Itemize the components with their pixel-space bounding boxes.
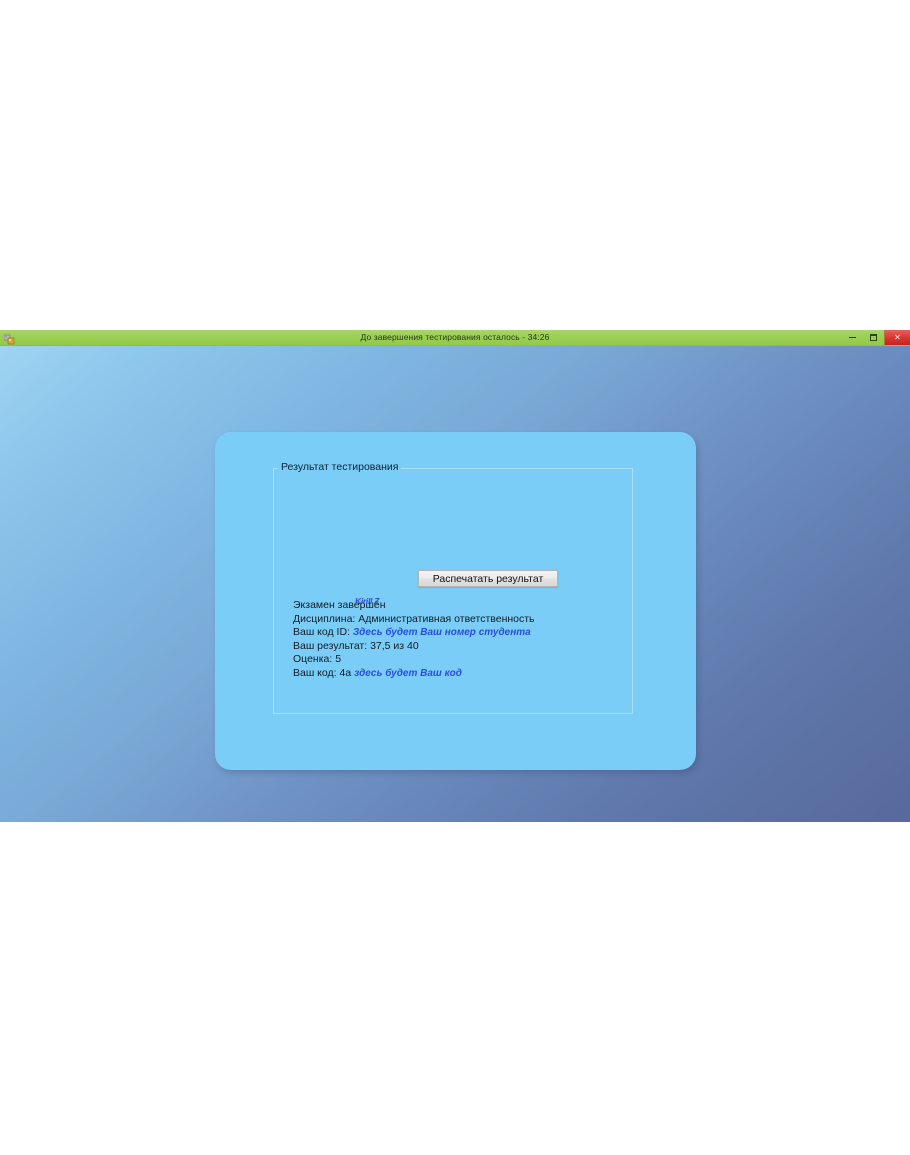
score-line: Ваш результат: 37,5 из 40 [293,640,633,654]
result-dialog-card: Результат тестирования Распечатать резул… [215,432,696,770]
code-line: Ваш код: 4а здесь будет Ваш код [293,667,633,681]
grade-line: Оценка: 5 [293,653,633,667]
print-result-button[interactable]: Распечатать результат [418,570,558,587]
window-client-area: Результат тестирования Распечатать резул… [0,346,910,822]
student-id-label: Ваш код ID: [293,626,350,638]
score-value: 37,5 из 40 [370,640,419,652]
restore-icon [870,334,877,341]
exam-status-line: Экзамен завершён Kirill Z [293,599,633,613]
window-title-text: До завершения тестирования осталось - 34… [0,330,910,345]
grade-label: Оценка: [293,653,332,665]
application-window: До завершения тестирования осталось - 34… [0,330,910,822]
discipline-line: Дисциплина: Административная ответственн… [293,613,633,627]
window-controls: ✕ [842,330,910,345]
discipline-value: Административная ответственность [358,613,534,625]
close-icon: ✕ [894,333,901,342]
code-label: Ваш код: [293,667,337,679]
window-title-bar[interactable]: До завершения тестирования осталось - 34… [0,330,910,346]
code-hint: здесь будет Ваш код [354,668,462,679]
close-button[interactable]: ✕ [884,330,910,345]
grade-value: 5 [335,653,341,665]
result-text-block: Экзамен завершён Kirill Z Дисциплина: Ад… [293,599,633,680]
watermark-overlay-text: Kirill Z [355,595,379,609]
restore-button[interactable] [863,330,884,345]
screen: До завершения тестирования осталось - 34… [0,0,910,1155]
minimize-icon [849,337,856,338]
code-value: 4а [339,667,351,679]
result-groupbox-legend: Результат тестирования [278,461,401,473]
application-icon [4,332,15,343]
student-id-hint: Здесь будет Ваш номер студента [353,627,531,638]
discipline-label: Дисциплина: [293,613,355,625]
print-result-button-label: Распечатать результат [433,573,544,585]
score-label: Ваш результат: [293,640,367,652]
student-id-line: Ваш код ID: Здесь будет Ваш номер студен… [293,626,633,640]
minimize-button[interactable] [842,330,863,345]
